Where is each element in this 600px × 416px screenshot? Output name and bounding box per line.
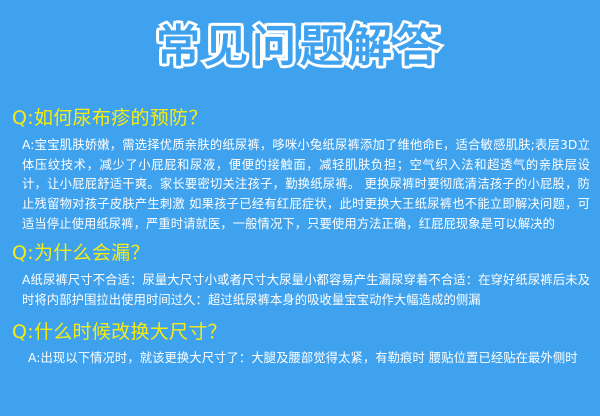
banner: 常见问题解答 bbox=[0, 22, 600, 73]
faq-list: Q:如何尿布疹的预防？ A:宝宝肌肤娇嫩，需选择优质亲肤的纸尿裤，哆咪小兔纸尿裤… bbox=[0, 104, 600, 375]
faq-item: Q:如何尿布疹的预防？ A:宝宝肌肤娇嫩，需选择优质亲肤的纸尿裤，哆咪小兔纸尿裤… bbox=[0, 106, 600, 235]
faq-item: Q:为什么会漏？ A纸尿裤尺寸不合适：尿量大尺寸小或者尺寸大尿量小都容易产生漏尿… bbox=[0, 241, 600, 310]
faq-question: Q:什么时候改换大尺寸？ bbox=[0, 320, 600, 346]
faq-answer: A纸尿裤尺寸不合适：尿量大尺寸小或者尺寸大尿量小都容易产生漏尿穿着不合适：在穿好… bbox=[0, 267, 600, 311]
faq-page: 常见问题解答 Q:如何尿布疹的预防？ A:宝宝肌肤娇嫩，需选择优质亲肤的纸尿裤，… bbox=[0, 0, 600, 416]
faq-answer: A:宝宝肌肤娇嫩，需选择优质亲肤的纸尿裤，哆咪小兔纸尿裤添加了维他命E，适合敏感… bbox=[0, 132, 600, 236]
page-title: 常见问题解答 bbox=[156, 22, 444, 73]
faq-question: Q:如何尿布疹的预防？ bbox=[0, 106, 600, 132]
faq-question: Q:为什么会漏？ bbox=[0, 241, 600, 267]
faq-item: Q:什么时候改换大尺寸？ A:出现以下情况时，就该更换大尺寸了：大腿及腰部觉得太… bbox=[0, 320, 600, 370]
faq-answer: A:出现以下情况时，就该更换大尺寸了：大腿及腰部觉得太紧，有勒痕时 腰贴位置已经… bbox=[0, 345, 600, 369]
